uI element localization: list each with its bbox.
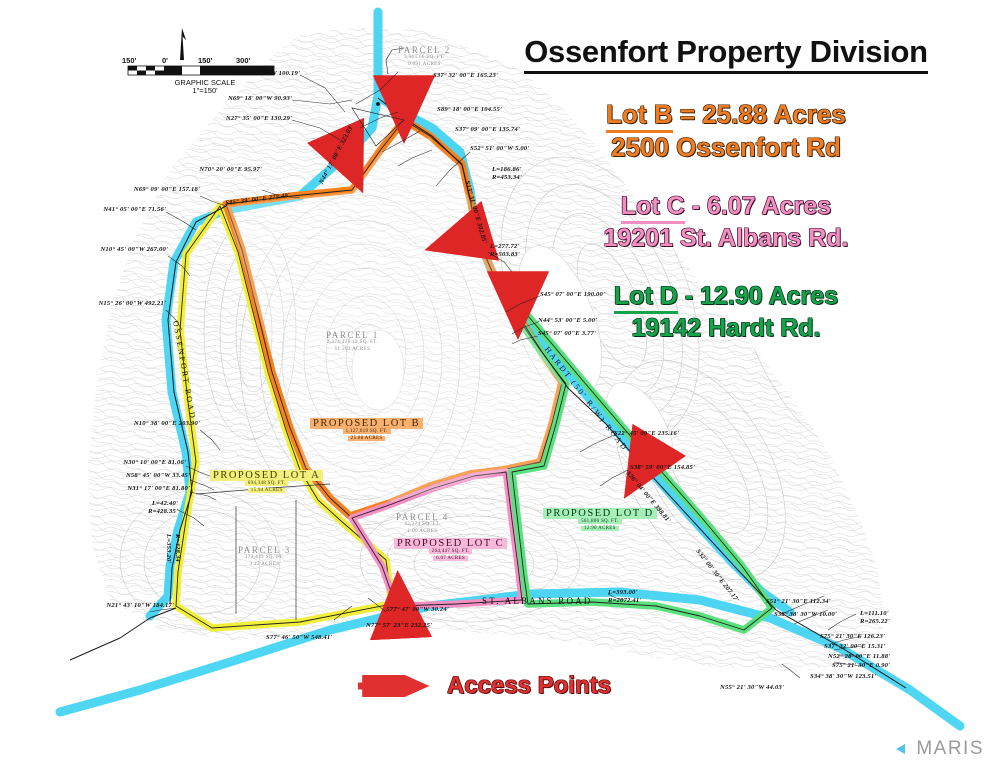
bearing-b36: S38° 38' 30"W 10.00' bbox=[774, 611, 837, 618]
legend-lot-b-address: 2500 Ossenfort Rd bbox=[476, 133, 976, 162]
scale-tick-150-east: 150' bbox=[198, 56, 212, 65]
proposed-lot-b-label: PROPOSED LOT B 1,127,619 SQ. FT. 25.88 A… bbox=[310, 418, 423, 443]
bearing-b41: N52° 28' 00"E 11.88' bbox=[828, 653, 890, 660]
access-arrow-icon bbox=[355, 675, 439, 697]
bearing-b23: R=503.83' bbox=[490, 251, 520, 258]
legend-lot-c-acres: - 6.07 Acres bbox=[685, 192, 831, 220]
proposed-lot-d-label: PROPOSED LOT D 561,806 SQ. FT. 12.90 ACR… bbox=[543, 508, 657, 533]
legend-lot-c: Lot C - 6.07 Acres 19201 St. Albans Rd. bbox=[476, 192, 976, 252]
bearing-b15: N15° 26' 00"W 492.21' bbox=[98, 300, 166, 307]
scale-tick-150-west: 150' bbox=[122, 56, 136, 65]
bearing-b16: N10° 38' 00"E 203.90' bbox=[134, 420, 200, 427]
bearing-b44: N55° 21' 30"W 44.03' bbox=[720, 684, 784, 691]
parcel-1-acres: 51.201 ACRES bbox=[326, 347, 379, 354]
bearing-b28: S38° 59' 00"E 154.85' bbox=[630, 464, 695, 471]
bearing-b40: S37° 32' 00"E 15.31' bbox=[824, 643, 886, 650]
parcel-2-label: PARCEL 2 3,963.66 SQ. FT. 0.091 ACRES bbox=[398, 45, 451, 68]
proposed-lot-d-acres: 12.90 ACRES bbox=[581, 526, 619, 531]
graphic-scale-bar bbox=[128, 28, 274, 75]
legend-lot-c-address: 19201 St. Albans Rd. bbox=[476, 224, 976, 252]
bearing-b10: N70° 20' 00"E 95.97' bbox=[199, 166, 262, 173]
proposed-lot-d-name: PROPOSED LOT D bbox=[543, 508, 657, 519]
bearing-b17: N30° 10' 00"E 81.06' bbox=[123, 459, 186, 466]
parcel-4-name: PARCEL 4 bbox=[396, 512, 449, 522]
bearing-b03: N27° 35' 00"E 130.29' bbox=[226, 115, 292, 122]
parcel-4-label: PARCEL 4 43,374 SQ. FT. 1.00 ACRES bbox=[396, 512, 449, 535]
proposed-lot-c-sqft: 264,447 SQ. FT. bbox=[429, 549, 473, 554]
bearing-b18: N58° 45' 00"W 33.45' bbox=[126, 472, 190, 479]
map-canvas: Ossenfort Property Division Lot B = 25.8… bbox=[0, 0, 994, 768]
legend-lot-b-acres: = 25.88 Acres bbox=[673, 99, 846, 129]
proposed-lot-a-sqft: 694,348 SQ. FT. bbox=[245, 481, 289, 486]
bearing-b20: L=42.40' bbox=[152, 500, 178, 507]
scale-tick-300: 300' bbox=[236, 56, 250, 65]
bearing-b34: R=2072.41' bbox=[608, 597, 641, 604]
scale-tick-0: 0' bbox=[162, 56, 168, 65]
parcel-1-label: PARCEL 1 2,374,435.19 SQ. FT. 51.201 ACR… bbox=[326, 330, 379, 353]
proposed-lot-b-acres: 25.88 ACRES bbox=[348, 436, 386, 441]
proposed-lot-a-name: PROPOSED LOT A bbox=[210, 470, 323, 481]
legend-lot-d-acres: - 12.90 Acres bbox=[678, 282, 838, 310]
parcel-1-sqft: 2,374,435.19 SQ. FT. bbox=[326, 340, 379, 347]
bearing-b02: N69° 18' 00"W 90.93' bbox=[228, 95, 292, 102]
proposed-lot-b-name: PROPOSED LOT B bbox=[310, 418, 423, 429]
proposed-lot-b-sqft: 1,127,619 SQ. FT. bbox=[343, 429, 391, 434]
bearing-b39: S75° 21' 30"E 126.23' bbox=[820, 633, 885, 640]
proposed-lot-c-acres: 6.07 ACRES bbox=[433, 556, 468, 561]
parcel-3-name: PARCEL 3 bbox=[238, 545, 291, 555]
bearing-b09: R=453.34' bbox=[492, 174, 522, 181]
scale-caption-ratio: 1"=150' bbox=[160, 86, 250, 95]
legend-lot-d-id: Lot D bbox=[614, 282, 678, 314]
legend-lot-b-id: Lot B bbox=[606, 100, 672, 133]
parcel-2-sqft: 3,963.66 SQ. FT. bbox=[398, 55, 451, 62]
maris-logo-icon bbox=[895, 741, 911, 757]
bearing-b46: R=428.34' bbox=[174, 534, 181, 564]
bearing-b13: N41° 05' 00"E 71.56' bbox=[103, 206, 166, 213]
bearing-b31: N77° 57' 23"E 232.25' bbox=[366, 622, 432, 629]
bearing-b22: L=277.72' bbox=[490, 243, 520, 250]
access-points-legend: Access Points bbox=[355, 672, 611, 700]
bearing-b32: S77° 47' 00"W 30.24' bbox=[386, 606, 449, 613]
bearing-b04: S37° 32' 00"E 165.23' bbox=[433, 72, 498, 79]
parcel-3-sqft: 173,439 SQ. FT. bbox=[238, 555, 291, 562]
parcel-3-acres: 3.22 ACRES bbox=[238, 562, 291, 569]
bearing-b19: N31° 17' 00"E 81.80' bbox=[127, 485, 190, 492]
maris-watermark-text: MARIS bbox=[916, 738, 984, 760]
proposed-lot-c-name: PROPOSED LOT C bbox=[394, 538, 507, 549]
maris-watermark: MARIS bbox=[895, 738, 984, 760]
legend-lot-b: Lot B = 25.88 Acres 2500 Ossenfort Rd bbox=[476, 100, 976, 162]
page-title: Ossenfort Property Division bbox=[524, 36, 928, 74]
bearing-b43: S34° 38' 30"W 123.51' bbox=[810, 673, 876, 680]
parcel-4-acres: 1.00 ACRES bbox=[396, 529, 449, 536]
bearing-b26: S45° 07' 00"E 3.77' bbox=[538, 330, 596, 337]
bearing-b05: S89° 18' 00"E 104.55' bbox=[437, 106, 502, 113]
bearing-b30: S77° 46' 50"W 548.41' bbox=[266, 634, 332, 641]
bearing-b01: N8° 58' 00"W 100.19' bbox=[236, 70, 300, 77]
bearing-b33: L=393.00' bbox=[608, 589, 638, 596]
bearing-b07: S52° 51' 00"W 5.00' bbox=[470, 145, 529, 152]
proposed-lot-d-sqft: 561,806 SQ. FT. bbox=[578, 519, 622, 524]
proposed-lot-a-acres: 15.94 ACRES bbox=[248, 488, 286, 493]
parcel-2-name: PARCEL 2 bbox=[398, 45, 451, 55]
bearing-b21: R=428.35' bbox=[148, 508, 178, 515]
bearing-b14: N10° 45' 00"W 267.00' bbox=[100, 246, 168, 253]
bearing-b35: S51° 21' 30"E 112.34' bbox=[766, 598, 831, 605]
bearing-b24: S45° 07' 00"E 190.00' bbox=[540, 291, 605, 298]
proposed-lot-a-label: PROPOSED LOT A 694,348 SQ. FT. 15.94 ACR… bbox=[210, 470, 323, 495]
parcel-2-acres: 0.091 ACRES bbox=[398, 62, 451, 69]
proposed-lot-c-label: PROPOSED LOT C 264,447 SQ. FT. 6.07 ACRE… bbox=[394, 538, 507, 563]
st-albans-road-label: ST. ALBANS ROAD bbox=[482, 596, 593, 606]
bearing-b27: S22° 45' 00"E 235.16' bbox=[614, 430, 679, 437]
bearing-b37: L=111.10' bbox=[860, 610, 889, 617]
bearing-b42: S75° 21' 30"E 0.90' bbox=[832, 662, 890, 669]
bearing-b45: L=353.20' bbox=[165, 534, 172, 564]
bearing-b29: N21° 43' 10"W 184.17' bbox=[106, 602, 174, 609]
bearing-b38: R=265.22' bbox=[860, 618, 890, 625]
parcel-1-name: PARCEL 1 bbox=[326, 330, 379, 340]
parcel-3-label: PARCEL 3 173,439 SQ. FT. 3.22 ACRES bbox=[238, 545, 291, 568]
bearing-b25: N44° 53' 00"E 5.00' bbox=[538, 317, 597, 324]
bearing-b06: S37° 09' 00"E 135.74' bbox=[455, 126, 520, 133]
access-points-label: Access Points bbox=[447, 672, 611, 700]
bearing-b08: L=186.86' bbox=[492, 166, 522, 173]
bearing-b12: N69° 09' 00"E 157.18' bbox=[134, 186, 200, 193]
legend-lot-c-id: Lot C bbox=[621, 192, 685, 224]
